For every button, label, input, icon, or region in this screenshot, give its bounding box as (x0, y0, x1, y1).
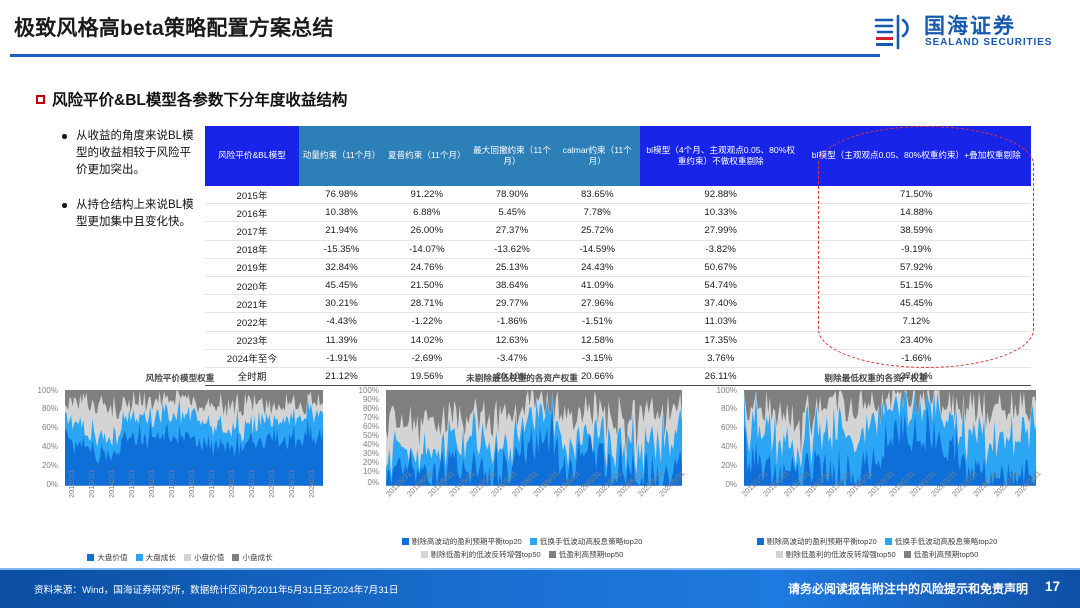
x-tick: 2019/2/1 (207, 469, 216, 498)
legend-label: 大盘价值 (97, 552, 127, 563)
legend-swatch-icon (757, 538, 764, 545)
cell: 10.33% (640, 204, 802, 222)
row-label: 2020年 (205, 276, 299, 294)
legend-item: 剔除高波动的盈利预期平衡top20 (757, 536, 877, 547)
slide-header: 极致风格高beta策略配置方案总结 国海证券 SEALAND SECURITIE… (0, 0, 1080, 62)
cell: 78.90% (469, 186, 554, 204)
y-tick: 80% (25, 404, 58, 413)
cell: -14.59% (555, 240, 640, 258)
y-tick: 30% (352, 449, 379, 458)
chart-weights-with-removal: 剔除最低权重的各资产权重 100% 80% 60% 40% 20% 0% 201… (706, 372, 1046, 560)
chart-title: 剔除最低权重的各资产权重 (706, 372, 1046, 384)
cell: -3.47% (469, 349, 554, 367)
legend-item: 大盘成长 (136, 552, 176, 563)
cell: 32.84% (299, 258, 384, 276)
cell: 28.71% (384, 295, 469, 313)
cell: 6.88% (384, 204, 469, 222)
row-label: 2016年 (205, 204, 299, 222)
table-row: 2024年至今-1.91%-2.69%-3.47%-3.15%3.76%-1.6… (205, 349, 1031, 367)
row-label: 2017年 (205, 222, 299, 240)
table-header-cell: bl模型（主观观点0.05、80%权重约束）+叠加权重剔除 (802, 126, 1031, 186)
cell: 12.58% (555, 331, 640, 349)
cell: 11.39% (299, 331, 384, 349)
cell: 12.63% (469, 331, 554, 349)
legend-item: 剔除低盈利的低波反转增强top50 (776, 549, 896, 560)
cell: -1.66% (802, 349, 1031, 367)
cell: 3.76% (640, 349, 802, 367)
legend-label: 剔除低盈利的低波反转增强top50 (786, 549, 896, 560)
chart-title: 风险平价模型权重 (25, 372, 335, 384)
legend-label: 大盘成长 (146, 552, 176, 563)
table-row: 2019年32.84%24.76%25.13%24.43%50.67%57.92… (205, 258, 1031, 276)
legend-item: 低盈利高预期top50 (904, 549, 979, 560)
legend-item: 低换手低波动高股息策略top20 (885, 536, 998, 547)
cell: 10.38% (299, 204, 384, 222)
cell: -3.15% (555, 349, 640, 367)
bullet-text: 从持仓结构上来说BL模型更加集中且变化快。 (76, 197, 200, 231)
cell: 76.98% (299, 186, 384, 204)
legend-label: 小盘价值 (194, 552, 224, 563)
legend-label: 低盈利高预期top50 (559, 549, 624, 560)
x-tick: 2021/2/1 (247, 469, 256, 498)
legend-label: 低盈利高预期top50 (914, 549, 979, 560)
chart-weights-no-removal: 未剔除最低权重的各资产权重 100% 90% 80% 70% 60% 50% 4… (352, 372, 692, 560)
table-header-cell: 动量约束（11个月） (299, 126, 384, 186)
cell: -2.69% (384, 349, 469, 367)
x-tick: 2012/2/1 (67, 469, 76, 498)
cell: 38.64% (469, 276, 554, 294)
cell: 11.03% (640, 313, 802, 331)
cell: -14.07% (384, 240, 469, 258)
legend-item: 低盈利高预期top50 (549, 549, 624, 560)
row-label: 2015年 (205, 186, 299, 204)
y-tick: 20% (352, 458, 379, 467)
x-tick: 2020/2/1 (227, 469, 236, 498)
legend-label: 低换手低波动高股息策略top20 (540, 536, 643, 547)
cell: 92.88% (640, 186, 802, 204)
y-axis: 100% 80% 60% 40% 20% 0% (706, 390, 740, 486)
cell: 30.21% (299, 295, 384, 313)
cell: 29.77% (469, 295, 554, 313)
legend-swatch-icon (184, 554, 191, 561)
cell: 27.37% (469, 222, 554, 240)
y-tick: 90% (352, 395, 379, 404)
cell: 50.67% (640, 258, 802, 276)
sealand-logo-icon (872, 12, 914, 52)
y-tick: 70% (352, 413, 379, 422)
chart-risk-parity-weights: 风险平价模型权重 100% 80% 60% 40% 20% 0% 2012/2/… (25, 372, 335, 563)
legend-swatch-icon (530, 538, 537, 545)
y-tick: 20% (25, 461, 58, 470)
x-axis: 2011/5/31 2012/5/31 2013/5/31 2014/5/31 … (386, 490, 692, 530)
row-label: 2018年 (205, 240, 299, 258)
x-tick: 2016/2/1 (147, 469, 156, 498)
table-row: 2015年76.98%91.22%78.90%83.65%92.88%71.50… (205, 186, 1031, 204)
cell: 25.13% (469, 258, 554, 276)
legend-item: 小盘成长 (232, 552, 272, 563)
cell: 25.72% (555, 222, 640, 240)
x-tick: 2024/2/1 (307, 469, 316, 498)
cell: -1.22% (384, 313, 469, 331)
x-tick: 2013/2/1 (87, 469, 96, 498)
legend-label: 剔除高波动的盈利预期平衡top20 (412, 536, 522, 547)
legend-label: 小盘成长 (242, 552, 272, 563)
chart-legend: 剔除高波动的盈利预期平衡top20 低换手低波动高股息策略top20 剔除低盈利… (722, 536, 1032, 560)
cell: -1.86% (469, 313, 554, 331)
square-bullet-icon (36, 95, 45, 104)
cell: -9.19% (802, 240, 1031, 258)
y-tick: 40% (706, 442, 737, 451)
bullet-list: 从收益的角度来说BL模型的收益相较于风险平价更加突出。 从持仓结构上来说BL模型… (60, 128, 200, 249)
legend-item: 剔除低盈利的低波反转增强top50 (421, 549, 541, 560)
cell: 38.59% (802, 222, 1031, 240)
y-tick: 40% (25, 442, 58, 451)
returns-table: 风险平价&BL模型 动量约束（11个月） 夏普约束（11个月） 最大回撤约束（1… (205, 126, 1031, 386)
cell: 23.40% (802, 331, 1031, 349)
legend-swatch-icon (402, 538, 409, 545)
x-axis: 2012/2/1 2013/2/1 2014/2/1 2015/2/1 2016… (65, 498, 335, 550)
y-tick: 80% (352, 404, 379, 413)
y-axis: 100% 80% 60% 40% 20% 0% (25, 390, 61, 486)
slide-footer: 资料来源：Wind，国海证券研究所，数据统计区间为2011年5月31日至2024… (0, 568, 1080, 608)
legend-swatch-icon (885, 538, 892, 545)
x-tick: 2018/2/1 (187, 469, 196, 498)
legend-swatch-icon (136, 554, 143, 561)
table-row: 2020年45.45%21.50%38.64%41.09%54.74%51.15… (205, 276, 1031, 294)
list-item: 从持仓结构上来说BL模型更加集中且变化快。 (60, 197, 200, 231)
legend-swatch-icon (87, 554, 94, 561)
y-tick: 0% (25, 480, 58, 489)
legend-label: 剔除高波动的盈利预期平衡top20 (767, 536, 877, 547)
returns-table-wrapper: 风险平价&BL模型 动量约束（11个月） 夏普约束（11个月） 最大回撤约束（1… (205, 126, 1031, 386)
cell: 45.45% (802, 295, 1031, 313)
table-header-cell: 风险平价&BL模型 (205, 126, 299, 186)
page-title: 极致风格高beta策略配置方案总结 (14, 12, 334, 42)
table-header-cell: 夏普约束（11个月） (384, 126, 469, 186)
y-tick: 0% (706, 480, 737, 489)
table-body: 2015年76.98%91.22%78.90%83.65%92.88%71.50… (205, 186, 1031, 386)
cell: 17.35% (640, 331, 802, 349)
cell: 54.74% (640, 276, 802, 294)
legend-item: 小盘价值 (184, 552, 224, 563)
table-row: 2017年21.94%26.00%27.37%25.72%27.99%38.59… (205, 222, 1031, 240)
list-item: 从收益的角度来说BL模型的收益相较于风险平价更加突出。 (60, 128, 200, 179)
table-row: 2016年10.38%6.88%5.45%7.78%10.33%14.88% (205, 204, 1031, 222)
cell: -1.51% (555, 313, 640, 331)
cell: 91.22% (384, 186, 469, 204)
company-logo: 国海证券 SEALAND SECURITIES (872, 10, 1062, 56)
cell: -1.91% (299, 349, 384, 367)
legend-swatch-icon (421, 551, 428, 558)
y-axis: 100% 90% 80% 70% 60% 50% 40% 30% 20% 10%… (352, 390, 382, 486)
chart-legend: 剔除高波动的盈利预期平衡top20 低换手低波动高股息策略top20 剔除低盈利… (372, 536, 672, 560)
legend-item: 大盘价值 (87, 552, 127, 563)
y-tick: 50% (352, 431, 379, 440)
legend-swatch-icon (232, 554, 239, 561)
chart-title: 未剔除最低权重的各资产权重 (352, 372, 692, 384)
x-tick: 2022/2/1 (267, 469, 276, 498)
row-label: 2019年 (205, 258, 299, 276)
x-tick: 2017/2/1 (167, 469, 176, 498)
table-header-row: 风险平价&BL模型 动量约束（11个月） 夏普约束（11个月） 最大回撤约束（1… (205, 126, 1031, 186)
bullet-text: 从收益的角度来说BL模型的收益相较于风险平价更加突出。 (76, 128, 200, 179)
cell: -4.43% (299, 313, 384, 331)
cell: 45.45% (299, 276, 384, 294)
cell: 71.50% (802, 186, 1031, 204)
source-note: 资料来源：Wind，国海证券研究所，数据统计区间为2011年5月31日至2024… (34, 582, 398, 596)
y-tick: 60% (352, 422, 379, 431)
section-title: 风险平价&BL模型各参数下分年度收益结构 (52, 88, 347, 110)
cell: 51.15% (802, 276, 1031, 294)
slide-root: 极致风格高beta策略配置方案总结 国海证券 SEALAND SECURITIE… (0, 0, 1080, 608)
footer-divider (0, 568, 1080, 570)
cell: 24.76% (384, 258, 469, 276)
row-label: 2024年至今 (205, 349, 299, 367)
cell: 83.65% (555, 186, 640, 204)
cell: 57.92% (802, 258, 1031, 276)
y-tick: 20% (706, 461, 737, 470)
legend-swatch-icon (776, 551, 783, 558)
cell: 7.12% (802, 313, 1031, 331)
y-tick: 0% (352, 478, 379, 487)
cell: 41.09% (555, 276, 640, 294)
cell: 21.50% (384, 276, 469, 294)
table-row: 2018年-15.35%-14.07%-13.62%-14.59%-3.82%-… (205, 240, 1031, 258)
cell: 14.02% (384, 331, 469, 349)
cell: 27.99% (640, 222, 802, 240)
cell: -3.82% (640, 240, 802, 258)
legend-label: 剔除低盈利的低波反转增强top50 (431, 549, 541, 560)
y-tick: 60% (706, 423, 737, 432)
x-tick: 2014/2/1 (107, 469, 116, 498)
table-header-cell: bl模型（4个月、主观观点0.05、80%权重约束）不做权重剔除 (640, 126, 802, 186)
row-label: 2023年 (205, 331, 299, 349)
chart-legend: 大盘价值 大盘成长 小盘价值 小盘成长 (25, 552, 335, 563)
cell: -15.35% (299, 240, 384, 258)
y-tick: 100% (25, 386, 58, 395)
cell: 14.88% (802, 204, 1031, 222)
x-axis: 2011/1/31 2012/1/31 2013/1/31 2014/1/31 … (744, 490, 1046, 530)
table-row: 2022年-4.43%-1.22%-1.86%-1.51%11.03%7.12% (205, 313, 1031, 331)
legend-item: 剔除高波动的盈利预期平衡top20 (402, 536, 522, 547)
table-row: 2021年30.21%28.71%29.77%27.96%37.40%45.45… (205, 295, 1031, 313)
row-label: 2021年 (205, 295, 299, 313)
table-header-cell: 最大回撤约束（11个月） (469, 126, 554, 186)
table-row: 2023年11.39%14.02%12.63%12.58%17.35%23.40… (205, 331, 1031, 349)
logo-text-en: SEALAND SECURITIES (925, 37, 1052, 48)
cell: 26.00% (384, 222, 469, 240)
y-tick: 80% (706, 404, 737, 413)
y-tick: 100% (352, 386, 379, 395)
x-tick: 2015/2/1 (127, 469, 136, 498)
x-tick: 2023/2/1 (287, 469, 296, 498)
cell: 5.45% (469, 204, 554, 222)
table-header-cell: calmar约束（11个月） (555, 126, 640, 186)
disclaimer-note: 请务必阅读报告附注中的风险提示和免责声明 (788, 580, 1028, 597)
legend-swatch-icon (904, 551, 911, 558)
y-tick: 10% (352, 467, 379, 476)
y-tick: 60% (25, 423, 58, 432)
section-heading: 风险平价&BL模型各参数下分年度收益结构 (36, 88, 347, 110)
title-underline (10, 54, 880, 57)
y-tick: 40% (352, 440, 379, 449)
legend-item: 低换手低波动高股息策略top20 (530, 536, 643, 547)
page-number: 17 (1045, 579, 1060, 594)
legend-label: 低换手低波动高股息策略top20 (895, 536, 998, 547)
cell: -13.62% (469, 240, 554, 258)
cell: 37.40% (640, 295, 802, 313)
cell: 7.78% (555, 204, 640, 222)
cell: 27.96% (555, 295, 640, 313)
cell: 24.43% (555, 258, 640, 276)
cell: 21.94% (299, 222, 384, 240)
y-tick: 100% (706, 386, 737, 395)
legend-swatch-icon (549, 551, 556, 558)
logo-text-cn: 国海证券 (924, 10, 1016, 40)
row-label: 2022年 (205, 313, 299, 331)
